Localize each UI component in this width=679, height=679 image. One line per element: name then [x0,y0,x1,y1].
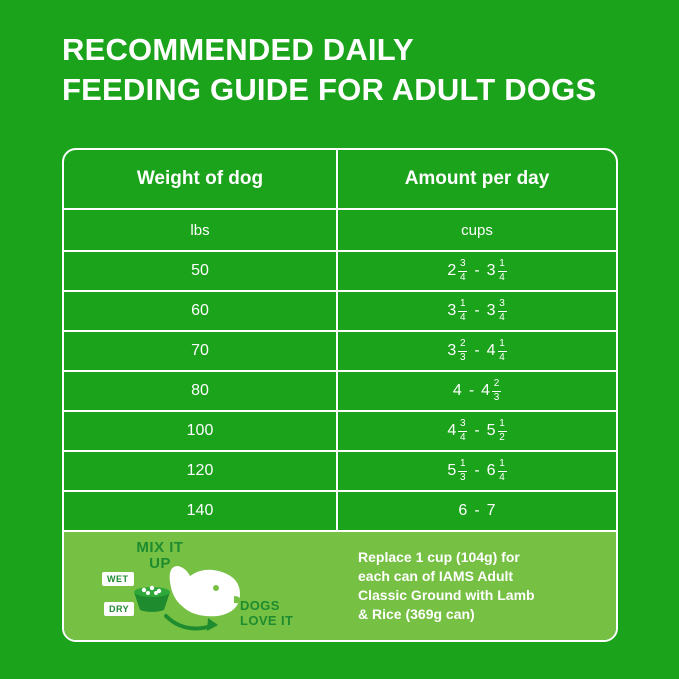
amount-high-fraction: 1 4 [498,459,507,483]
row-amount: 3 1 4 - 3 3 4 [338,292,616,330]
table-units-row: lbs cups [64,208,616,250]
amount-low-fraction: 2 3 [458,339,467,363]
amount-high-fraction: 3 4 [498,299,507,323]
amount-low-fraction: 3 4 [458,259,467,283]
feeding-table: Weight of dog Amount per day lbs cups 50… [62,148,618,642]
amount-low-whole: 3 [447,343,456,359]
amount-high-whole: 3 [487,303,496,319]
unit-lbs: lbs [64,210,338,250]
replace-note-line-2: each can of IAMS Adult [358,568,513,584]
header-weight-of-dog: Weight of dog [64,150,338,208]
amount-low-fraction: 3 4 [458,419,467,443]
table-row: 120 5 1 3 - 6 1 4 [64,450,616,490]
wet-label: WET [102,572,134,586]
row-amount: 5 1 3 - 6 1 4 [338,452,616,490]
row-weight: 140 [64,492,338,530]
amount-low-fraction: 1 4 [458,299,467,323]
row-weight: 100 [64,412,338,450]
swoosh-arrow-icon [164,612,244,634]
amount-low-whole: 2 [447,263,456,279]
feeding-guide-page: RECOMMENDED DAILY FEEDING GUIDE FOR ADUL… [0,0,679,679]
row-weight: 60 [64,292,338,330]
amount-low-whole: 4 [447,423,456,439]
row-weight: 70 [64,332,338,370]
amount-high-whole: 7 [487,503,496,519]
amount-low-fraction: 1 3 [458,459,467,483]
dogs-love-it-text: DOGS LOVE IT [240,598,293,628]
page-title: RECOMMENDED DAILY FEEDING GUIDE FOR ADUL… [62,30,662,110]
table-header-row: Weight of dog Amount per day [64,150,616,208]
amount-separator: - [474,423,479,439]
page-title-line-2: FEEDING GUIDE FOR ADULT DOGS [62,70,662,110]
mix-it-up-illustration: MIX IT UP WET DRY [64,532,338,640]
amount-high-fraction: 1 4 [498,259,507,283]
amount-high-whole: 3 [487,263,496,279]
amount-low-whole: 6 [458,503,467,519]
amount-separator: - [474,303,479,319]
table-row: 60 3 1 4 - 3 3 4 [64,290,616,330]
amount-low-whole: 3 [447,303,456,319]
replace-note-line-3: Classic Ground with Lamb [358,587,535,603]
amount-separator: - [474,263,479,279]
mix-it-up-panel: MIX IT UP WET DRY [64,530,616,640]
amount-separator: - [474,343,479,359]
row-amount: 2 3 4 - 3 1 4 [338,252,616,290]
row-weight: 50 [64,252,338,290]
amount-low-whole: 5 [447,463,456,479]
replace-note-text: Replace 1 cup (104g) for each can of IAM… [358,548,535,624]
row-amount: 3 2 3 - 4 1 4 [338,332,616,370]
table-row: 70 3 2 3 - 4 1 4 [64,330,616,370]
page-title-line-1: RECOMMENDED DAILY [62,30,662,70]
amount-high-fraction: 1 4 [498,339,507,363]
amount-separator: - [474,503,479,519]
replace-note-line-4: & Rice (369g can) [358,606,475,622]
amount-high-whole: 4 [487,343,496,359]
table-row: 100 4 3 4 - 5 1 2 [64,410,616,450]
amount-high-whole: 4 [481,383,490,399]
table-row: 80 4 - 4 2 3 [64,370,616,410]
amount-high-whole: 5 [487,423,496,439]
amount-low-whole: 4 [453,383,462,399]
row-amount: 6 - 7 [338,492,616,530]
row-weight: 120 [64,452,338,490]
row-amount: 4 3 4 - 5 1 2 [338,412,616,450]
row-amount: 4 - 4 2 3 [338,372,616,410]
amount-separator: - [474,463,479,479]
amount-separator: - [469,383,474,399]
replace-note: Replace 1 cup (104g) for each can of IAM… [338,532,616,640]
table-row: 140 6 - 7 [64,490,616,530]
replace-note-line-1: Replace 1 cup (104g) for [358,549,520,565]
header-amount-per-day: Amount per day [338,150,616,208]
amount-high-whole: 6 [487,463,496,479]
amount-high-fraction: 2 3 [492,379,501,403]
row-weight: 80 [64,372,338,410]
amount-high-fraction: 1 2 [498,419,507,443]
unit-cups: cups [338,210,616,250]
table-row: 50 2 3 4 - 3 1 4 [64,250,616,290]
